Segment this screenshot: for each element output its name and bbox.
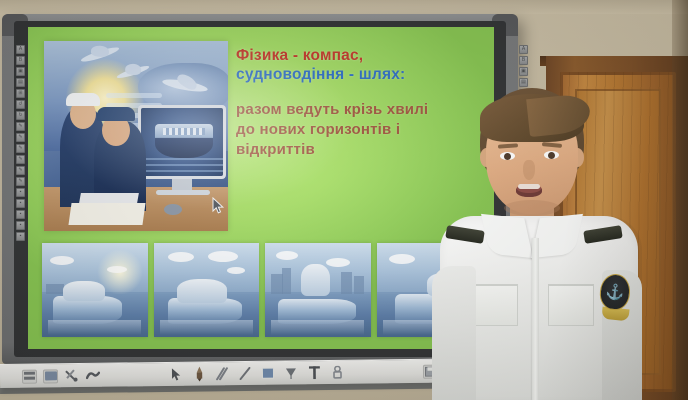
bezel-button-3[interactable]: ▣: [16, 67, 25, 76]
thumbnail-futuristic-ship-2: [154, 243, 260, 337]
bezel-button-6[interactable]: ↺: [16, 100, 25, 109]
bezel-button-5[interactable]: ⊞: [16, 89, 25, 98]
bezel-button-10[interactable]: ✎: [16, 144, 25, 153]
officers-at-computer-illustration: [44, 41, 228, 231]
illustration-monitor: [138, 105, 226, 179]
bezel-button-14[interactable]: ▪: [16, 188, 25, 197]
presenter-nose: [523, 160, 535, 180]
bezel-button-15[interactable]: ▪: [16, 199, 25, 208]
select-pointer-icon[interactable]: [169, 367, 184, 381]
illustration-keyboard: [79, 193, 139, 203]
thumbnail-futuristic-ship-1: [42, 243, 148, 337]
presenter-eye-left: [500, 152, 515, 160]
bezel-button-16[interactable]: ▪: [16, 210, 25, 219]
bezel-button-13[interactable]: ✎: [16, 177, 25, 186]
bezel-button-1[interactable]: A: [16, 45, 25, 54]
illustration-papers: [68, 203, 145, 225]
highlighter-icon[interactable]: [215, 367, 230, 381]
bezel-button-9[interactable]: ✎: [16, 133, 25, 142]
bezel-button-18[interactable]: ▪: [16, 232, 25, 241]
bezel-button-11[interactable]: ✎: [16, 155, 25, 164]
tools-icon[interactable]: [64, 369, 79, 383]
bezel-button-17[interactable]: ▪: [16, 221, 25, 230]
illustration-monitor-base: [156, 190, 210, 195]
presenter-shirt-placket: [532, 238, 539, 400]
bezel-button-4[interactable]: ▤: [16, 78, 25, 87]
illustration-mouse: [164, 204, 182, 215]
bezel-button-4[interactable]: ▤: [519, 78, 528, 87]
toolbar-main-group[interactable]: [169, 365, 345, 381]
presenter-eye-right: [544, 151, 559, 159]
bezel-button-2[interactable]: B: [519, 56, 528, 65]
toolbar-left-group[interactable]: [22, 368, 100, 383]
bezel-button-7[interactable]: ↻: [16, 111, 25, 120]
screen-icon[interactable]: [43, 369, 58, 383]
presenter-chest-pocket-right: [548, 284, 594, 326]
illustration-waves: [141, 158, 223, 176]
bezel-button-1[interactable]: A: [519, 45, 528, 54]
thumbnail-futuristic-ship-3: [265, 243, 371, 337]
gesture-icon[interactable]: [85, 368, 100, 382]
rectangle-shape-icon[interactable]: [261, 366, 276, 380]
bezel-button-8[interactable]: ✎: [16, 122, 25, 131]
bezel-button-2[interactable]: B: [16, 56, 25, 65]
illustration-ship-on-screen: [155, 124, 213, 158]
maritime-cadet-presenter: ⚓: [432, 88, 642, 400]
presenter-chest-pocket-left: [472, 284, 518, 326]
bezel-button-12[interactable]: ✎: [16, 166, 25, 175]
fill-icon[interactable]: [284, 366, 299, 380]
mouse-pointer: [212, 197, 225, 215]
text-tool-icon[interactable]: [307, 366, 322, 380]
page-list-icon[interactable]: [22, 369, 37, 383]
eraser-icon[interactable]: [330, 365, 345, 379]
ceiling-shadow: [0, 0, 688, 14]
presenter-chin-shadow: [504, 200, 560, 216]
right-wall-shadow: [672, 0, 688, 400]
illustration-officer-woman-cap: [66, 93, 100, 106]
presenter-arm-left: [432, 266, 476, 400]
illustration-monitor-screen: [141, 108, 223, 176]
line-icon[interactable]: [238, 366, 253, 380]
bezel-toolbar-left[interactable]: AB▣▤⊞↺↻✎✎✎✎✎✎▪▪▪▪▪: [15, 45, 26, 337]
slide-title-line-1: Фізика - компас,: [236, 47, 482, 66]
bezel-button-3[interactable]: ▣: [519, 67, 528, 76]
slide-title-line-2: судноводіння - шлях:: [236, 66, 482, 85]
pen-icon[interactable]: [192, 367, 207, 381]
toolbar-gap-1: [100, 374, 169, 375]
toolbar-gap-2: [345, 371, 423, 372]
presentation-slide[interactable]: Фізика - компас, судноводіння - шлях: ра…: [28, 27, 494, 349]
illustration-officer-man-cap: [97, 107, 135, 121]
slide-thumbnail-row: [42, 243, 482, 337]
presenter-teeth: [518, 184, 540, 189]
